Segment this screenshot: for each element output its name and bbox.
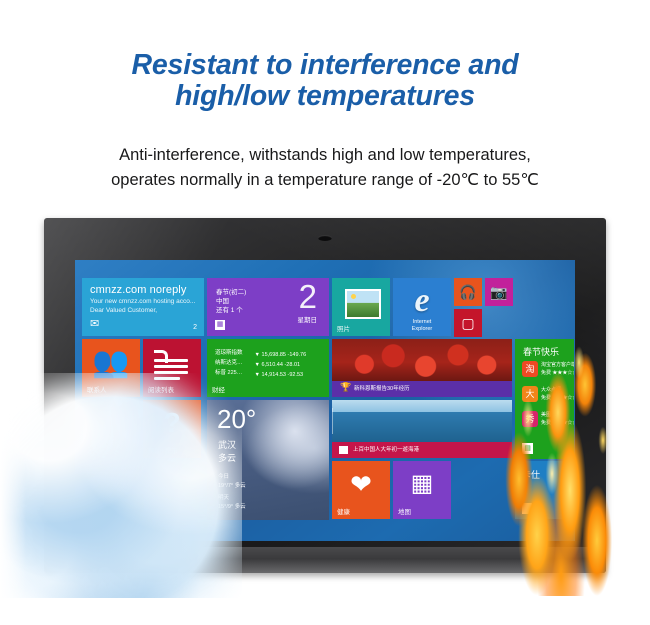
photo-icon: [345, 289, 381, 319]
finance-row: 标普 225… ▼ 14,914.53 -92.53: [215, 368, 303, 378]
weather-temperature: 20°: [217, 406, 256, 432]
store-bag-icon: ▤: [522, 443, 533, 454]
weather-forecast-day: 明天: [218, 493, 229, 501]
travel-photo: [332, 400, 512, 442]
finance-value: 14,914.53: [262, 372, 286, 378]
tile-maps[interactable]: ▦ 地图: [393, 461, 451, 519]
store-title: 春节快乐: [523, 345, 559, 358]
tile-store[interactable]: 春节快乐 淘 淘宝官方客户端 免费 ★★★☆☆ 1117 大 大众点评 免费 ★…: [515, 339, 574, 459]
tile-maps-label: 地图: [398, 506, 411, 516]
subheadline-block: Anti-interference, withstands high and l…: [0, 143, 650, 193]
video-icon: ▢: [454, 309, 482, 337]
weather-condition: 多云: [218, 451, 236, 464]
camera-icon: 📷: [485, 278, 513, 306]
headline-line-1: Resistant to interference and: [0, 50, 650, 81]
finance-change: -92.53: [288, 372, 304, 378]
dianping-icon: 大: [522, 386, 538, 402]
store-app-price: 免费 ★★★☆☆: [541, 394, 574, 401]
weather-city: 武汉: [218, 438, 236, 451]
tile-camera[interactable]: 📷: [485, 278, 513, 306]
tile-finance[interactable]: 道琼斯指数 ▼ 15,698.85 -149.76 纳斯达克… ▼ 6,510.…: [207, 339, 329, 397]
calendar-day-number: 2: [299, 280, 317, 313]
tile-health-label: 健康: [337, 506, 350, 516]
heart-icon: ❤: [332, 471, 390, 497]
finance-index-name: 标普 225…: [215, 368, 253, 376]
mail-unread-count: 2: [193, 324, 197, 331]
mail-preview-1: Your new cmnzz.com hosting acco...: [90, 298, 195, 305]
card-icon: [522, 503, 532, 514]
envelope-icon: ✉: [90, 317, 99, 330]
tile-internet-explorer[interactable]: e Internet Explorer: [393, 278, 451, 336]
map-icon: ▦: [393, 471, 451, 497]
front-camera-icon: [318, 235, 332, 241]
tile-people-label: 联系人: [87, 384, 107, 394]
tile-reading-list[interactable]: 阅读列表: [143, 339, 201, 397]
finance-row: 道琼斯指数 ▼ 15,698.85 -149.76: [215, 348, 306, 358]
windows-start-screen: cmnzz.com noreply Your new cmnzz.com hos…: [75, 260, 575, 541]
travel-caption: 上百中国人大年初一遊海港: [353, 445, 419, 453]
people-icon: 👥: [82, 348, 140, 378]
sports-caption: 新科恩斯报告30年经历: [354, 384, 410, 392]
tile-people[interactable]: 👥 联系人: [82, 339, 140, 397]
headphones-icon: 🎧: [454, 278, 482, 306]
store-app-name: 美图秀秀: [541, 411, 561, 418]
store-app-row[interactable]: 大 大众点评 免费 ★★★☆☆: [522, 386, 572, 406]
tile-calendar[interactable]: 春节(初二) 中国 还有 1 个 2 星期日 ▦: [207, 278, 329, 336]
card-title: 卡仕: [522, 468, 540, 481]
tile-photos-label: 照片: [337, 323, 350, 333]
finance-arrow: ▼: [255, 372, 260, 378]
tile-finance-label: 财经: [212, 384, 225, 394]
headline-block: Resistant to interference and high/low t…: [0, 50, 650, 112]
subheadline-line-1: Anti-interference, withstands high and l…: [0, 143, 650, 168]
store-app-price: 免费 ★★★☆☆: [541, 419, 574, 426]
finance-row: 纳斯达克… ▼ 6,510.44 -28.01: [215, 358, 300, 368]
tile-card[interactable]: 卡仕: [515, 461, 574, 519]
monitor-base: [44, 547, 606, 573]
ie-label-line-2: Explorer: [393, 326, 451, 333]
tile-health[interactable]: ❤ 健康: [332, 461, 390, 519]
tile-weather[interactable]: 20° 武汉 多云 今日 19°/7° 多云 明天 15°/9° 多云: [207, 400, 329, 520]
calendar-remaining: 还有 1 个: [216, 304, 243, 314]
finance-index-name: 道琼斯指数: [215, 348, 253, 356]
calendar-day-of-week: 星期日: [298, 314, 318, 324]
news-icon: [339, 446, 348, 454]
weather-forecast-day: 今日: [218, 472, 229, 480]
taobao-icon: 淘: [522, 361, 538, 377]
tile-video[interactable]: ▢: [454, 309, 482, 337]
sports-photo: [332, 339, 512, 381]
tile-reading-list-label: 阅读列表: [148, 384, 174, 394]
tile-music[interactable]: 🎧: [454, 278, 482, 306]
subheadline-line-2: operates normally in a temperature range…: [0, 168, 650, 193]
tile-mail[interactable]: cmnzz.com noreply Your new cmnzz.com hos…: [82, 278, 204, 336]
store-app-name: 大众点评: [541, 386, 561, 393]
finance-index-name: 纳斯达克…: [215, 358, 253, 366]
store-app-name: 淘宝官方客户端: [541, 361, 574, 368]
tile-sports[interactable]: 🏆 新科恩斯报告30年经历: [332, 339, 512, 397]
tile-travel[interactable]: 上百中国人大年初一遊海港: [332, 400, 512, 458]
store-app-row[interactable]: 淘 淘宝官方客户端 免费 ★★★☆☆ 1117: [522, 361, 572, 381]
tile-help[interactable]: ? 帮助+提示: [143, 400, 201, 458]
tablet-monitor: cmnzz.com noreply Your new cmnzz.com hos…: [44, 218, 606, 573]
weather-forecast-value: 15°/9° 多云: [218, 502, 246, 510]
store-app-row[interactable]: 秀 美图秀秀 免费 ★★★☆☆: [522, 411, 572, 431]
internet-explorer-icon: e: [393, 284, 451, 318]
trophy-icon: 🏆: [340, 382, 351, 393]
mail-preview-2: Dear Valued Customer,: [90, 307, 157, 314]
meitu-icon: 秀: [522, 411, 538, 427]
tile-photos[interactable]: 照片: [332, 278, 390, 336]
mail-sender: cmnzz.com noreply: [90, 284, 186, 296]
store-app-price: 免费 ★★★☆☆ 1117: [541, 369, 574, 376]
tile-grid: cmnzz.com noreply Your new cmnzz.com hos…: [82, 278, 574, 536]
weather-forecast-value: 19°/7° 多云: [218, 481, 246, 489]
question-mark-icon: ?: [143, 408, 201, 438]
headline-line-2: high/low temperatures: [0, 81, 650, 112]
calendar-icon: ▦: [215, 320, 225, 330]
tile-help-label: 帮助+提示: [148, 445, 178, 455]
